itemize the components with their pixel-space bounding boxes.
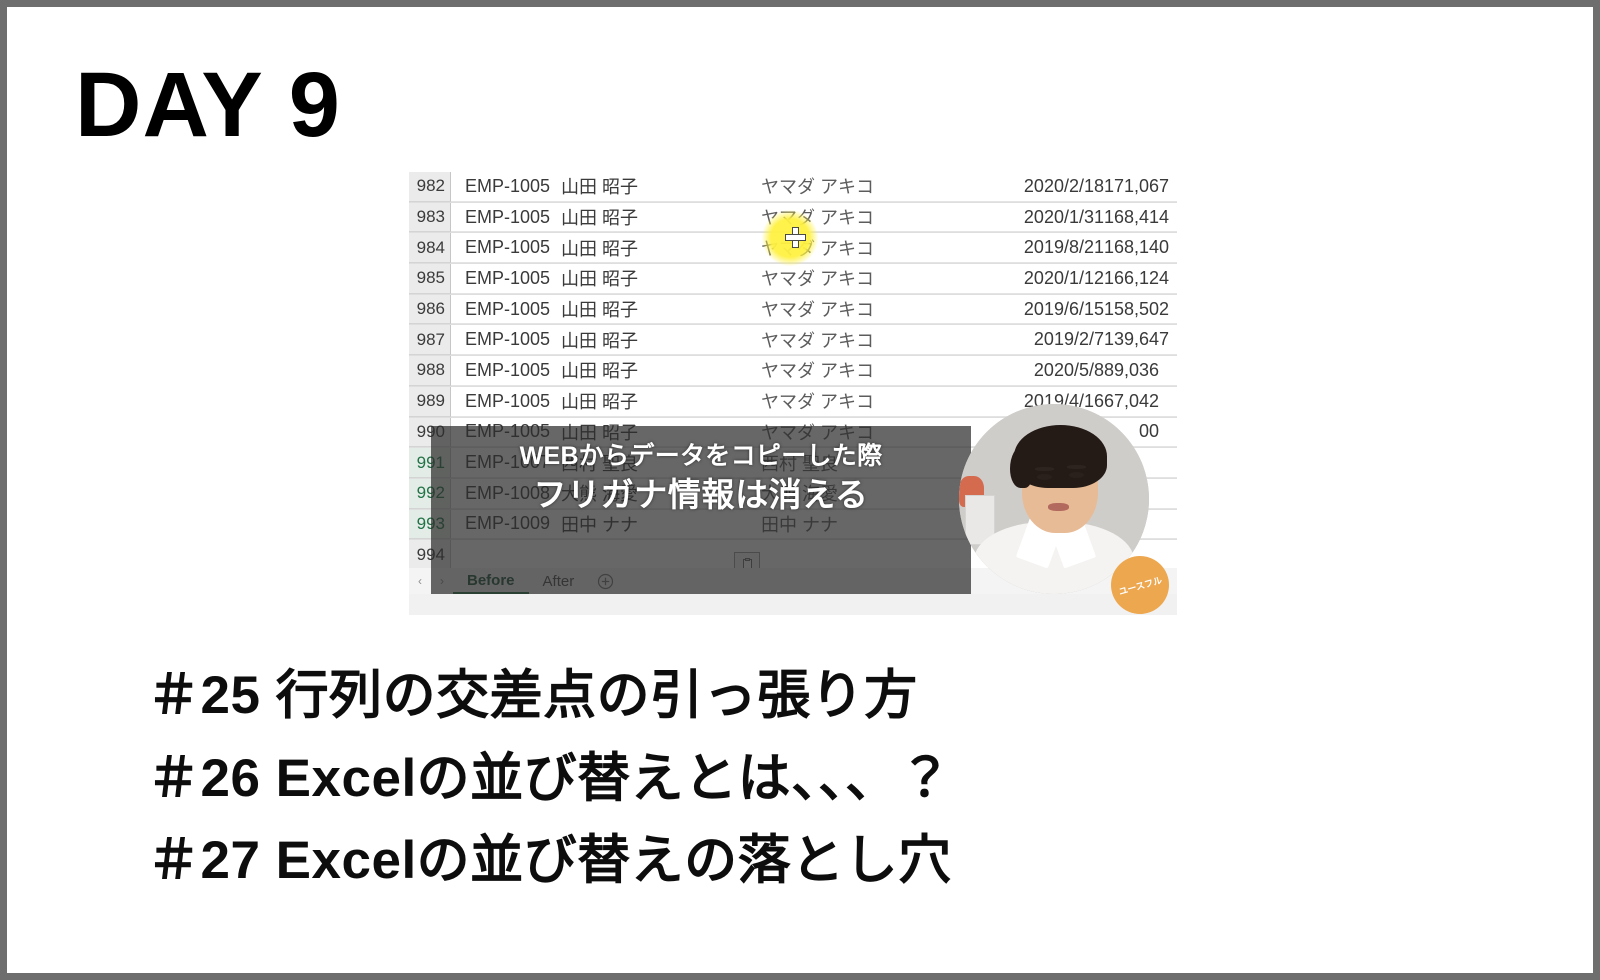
brand-badge: ユースフル: [1111, 556, 1169, 614]
cell-amount[interactable]: 171,067: [1104, 176, 1177, 197]
cell-employee-id[interactable]: EMP-1005: [451, 207, 561, 228]
row-header[interactable]: 985: [409, 264, 451, 294]
cell-employee-id[interactable]: EMP-1005: [451, 360, 561, 381]
episode-list: ＃25 行列の交差点の引っ張り方 ＃26 Excelの並び替えとは、、、？ ＃2…: [147, 655, 1347, 903]
cell-date[interactable]: 2019/6/15: [976, 299, 1104, 320]
status-bar: [409, 594, 1177, 615]
caption-line-2: フリガナ情報は消える: [431, 477, 971, 514]
row-header[interactable]: 988: [409, 356, 451, 386]
cell-name[interactable]: 山田 昭子: [561, 204, 761, 230]
cell-furigana[interactable]: ヤマダ アキコ: [761, 296, 976, 322]
row-cells[interactable]: EMP-1005 山田 昭子 ヤマダ アキコ 2019/2/7 139,647: [451, 325, 1177, 355]
row-header[interactable]: 986: [409, 295, 451, 325]
cell-employee-id[interactable]: EMP-1005: [451, 299, 561, 320]
cell-name[interactable]: 山田 昭子: [561, 296, 761, 322]
cell-furigana[interactable]: ヤマダ アキコ: [761, 173, 976, 199]
slide-canvas: DAY 9 982 EMP-1005 山田 昭子 ヤマダ アキコ 2020/2/…: [7, 7, 1593, 973]
cell-employee-id[interactable]: EMP-1005: [451, 391, 561, 412]
cell-name[interactable]: 山田 昭子: [561, 357, 761, 383]
cell-name[interactable]: 山田 昭子: [561, 327, 761, 353]
cell-date[interactable]: 2020/2/18: [976, 176, 1104, 197]
cell-date[interactable]: 2020/1/12: [976, 268, 1104, 289]
cell-name[interactable]: 山田 昭子: [561, 173, 761, 199]
cell-date[interactable]: 2020/1/31: [976, 207, 1104, 228]
sheet-tab-dimmer: [431, 568, 971, 594]
row-header[interactable]: 987: [409, 325, 451, 355]
cell-amount[interactable]: 168,140: [1104, 237, 1177, 258]
row-header[interactable]: 989: [409, 387, 451, 417]
row-header[interactable]: 983: [409, 203, 451, 233]
excel-screenshot-thumbnail: 982 EMP-1005 山田 昭子 ヤマダ アキコ 2020/2/18 171…: [409, 172, 1177, 615]
cell-employee-id[interactable]: EMP-1005: [451, 237, 561, 258]
cell-employee-id[interactable]: EMP-1005: [451, 176, 561, 197]
caption-overlay: WEBからデータをコピーした際 フリガナ情報は消える: [431, 442, 971, 514]
sheet-nav-prev-icon[interactable]: ‹: [409, 568, 431, 594]
cell-amount[interactable]: 89,036: [1104, 360, 1177, 381]
cell-amount[interactable]: 168,414: [1104, 207, 1177, 228]
cell-date[interactable]: 2019/8/21: [976, 237, 1104, 258]
table-row[interactable]: 987 EMP-1005 山田 昭子 ヤマダ アキコ 2019/2/7 139,…: [409, 325, 1177, 356]
row-cells[interactable]: EMP-1005 山田 昭子 ヤマダ アキコ 2019/6/15 158,502: [451, 295, 1177, 325]
cell-furigana[interactable]: ヤマダ アキコ: [761, 265, 976, 291]
cell-date[interactable]: 2020/5/8: [976, 360, 1104, 381]
cell-amount[interactable]: 139,647: [1104, 329, 1177, 350]
table-row[interactable]: 986 EMP-1005 山田 昭子 ヤマダ アキコ 2019/6/15 158…: [409, 295, 1177, 326]
row-header[interactable]: 982: [409, 172, 451, 202]
list-item: ＃26 Excelの並び替えとは、、、？: [147, 738, 1347, 821]
table-row[interactable]: 988 EMP-1005 山田 昭子 ヤマダ アキコ 2020/5/8 89,0…: [409, 356, 1177, 387]
cell-amount[interactable]: 166,124: [1104, 268, 1177, 289]
cell-employee-id[interactable]: EMP-1005: [451, 268, 561, 289]
row-header[interactable]: 984: [409, 233, 451, 263]
table-row[interactable]: 982 EMP-1005 山田 昭子 ヤマダ アキコ 2020/2/18 171…: [409, 172, 1177, 203]
cell-name[interactable]: 山田 昭子: [561, 388, 761, 414]
row-cells[interactable]: EMP-1005 山田 昭子 ヤマダ アキコ 2020/5/8 89,036: [451, 356, 1177, 386]
avatar-hair-side: [1010, 446, 1033, 488]
caption-line-1: WEBからデータをコピーした際: [431, 442, 971, 470]
list-item: ＃25 行列の交差点の引っ張り方: [147, 655, 1347, 738]
cell-name[interactable]: 山田 昭子: [561, 265, 761, 291]
cell-date[interactable]: 2019/2/7: [976, 329, 1104, 350]
page-title: DAY 9: [75, 59, 341, 151]
brand-badge-label: ユースフル: [1117, 573, 1163, 598]
table-row[interactable]: 985 EMP-1005 山田 昭子 ヤマダ アキコ 2020/1/12 166…: [409, 264, 1177, 295]
cell-employee-id[interactable]: EMP-1005: [451, 329, 561, 350]
list-item: ＃27 Excelの並び替えの落とし穴: [147, 820, 1347, 903]
cell-furigana[interactable]: ヤマダ アキコ: [761, 327, 976, 353]
cell-amount[interactable]: 158,502: [1104, 299, 1177, 320]
avatar-mouth: [1048, 503, 1069, 512]
avatar-brow-left: [1035, 467, 1054, 471]
row-cells[interactable]: EMP-1005 山田 昭子 ヤマダ アキコ 2020/2/18 171,067: [451, 172, 1177, 202]
cell-cursor-icon: [785, 227, 805, 247]
row-cells[interactable]: EMP-1005 山田 昭子 ヤマダ アキコ 2020/1/12 166,124: [451, 264, 1177, 294]
avatar-brow-right: [1067, 465, 1086, 469]
cell-name[interactable]: 山田 昭子: [561, 235, 761, 261]
cell-furigana[interactable]: ヤマダ アキコ: [761, 388, 976, 414]
cell-furigana[interactable]: ヤマダ アキコ: [761, 357, 976, 383]
